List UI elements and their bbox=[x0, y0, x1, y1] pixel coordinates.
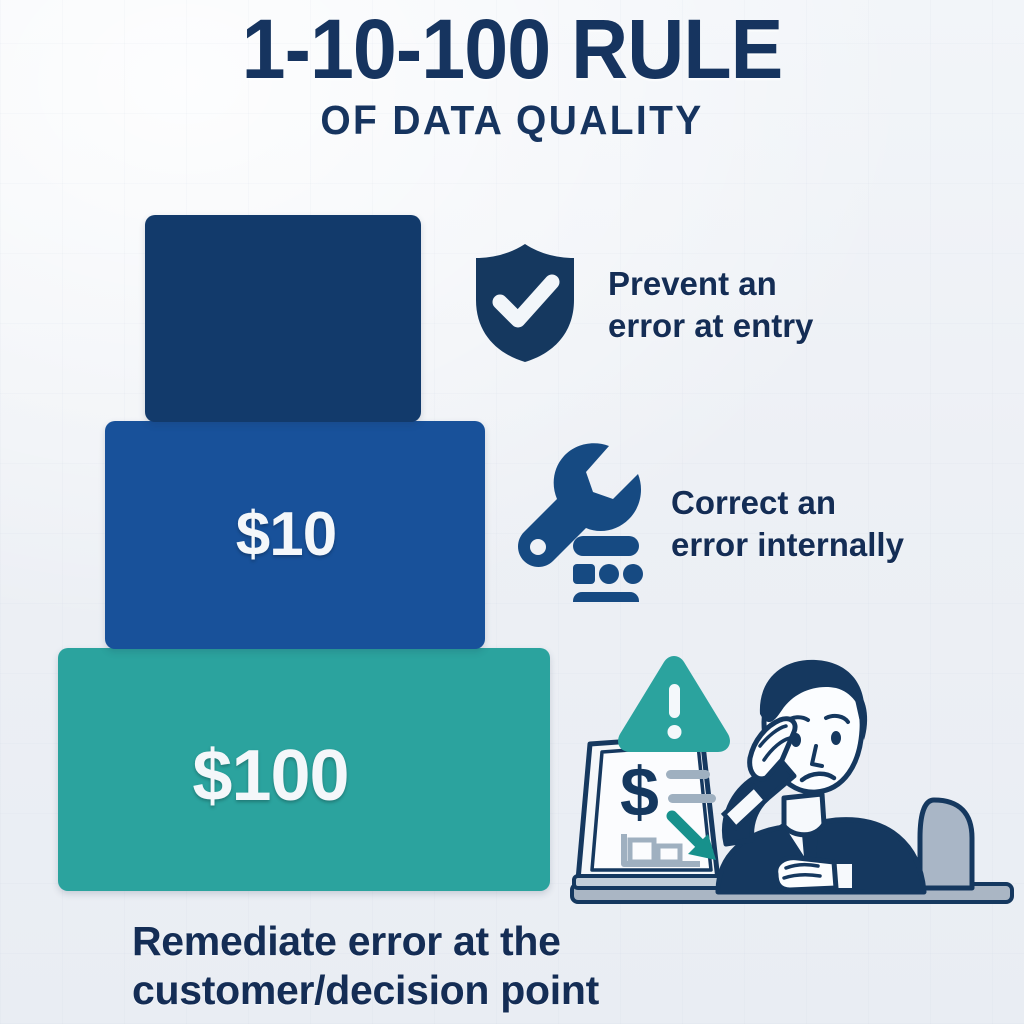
infographic-canvas: 1-10-100 RULE OF DATA QUALITY $1 $10 $10… bbox=[0, 0, 1024, 1024]
screen-currency-symbol: $ bbox=[620, 753, 659, 831]
laptop: $ bbox=[574, 736, 726, 888]
office-chair bbox=[920, 800, 972, 888]
banknote-amount-label: $100 bbox=[192, 735, 348, 817]
tier-block-prevent bbox=[145, 215, 421, 422]
callout-correct-label: Correct an error internally bbox=[671, 482, 904, 566]
warning-triangle-icon bbox=[618, 656, 730, 752]
shield-check-icon bbox=[466, 238, 584, 371]
stressed-person bbox=[718, 660, 924, 892]
stressed-worker-laptop-illustration: $ bbox=[568, 648, 1024, 920]
page-subtitle: OF DATA QUALITY bbox=[26, 98, 999, 142]
callout-correct: Correct an error internally bbox=[505, 440, 904, 607]
wrench-database-icon bbox=[505, 440, 645, 607]
callout-prevent: Prevent an error at entry bbox=[466, 238, 813, 371]
page-title: 1-10-100 RULE bbox=[31, 6, 994, 92]
banknote-amount-label: $10 bbox=[236, 499, 336, 570]
callout-prevent-label: Prevent an error at entry bbox=[608, 263, 813, 347]
title-block: 1-10-100 RULE OF DATA QUALITY bbox=[0, 6, 1024, 142]
callout-remediate-label: Remediate error at the customer/decision… bbox=[132, 917, 692, 1015]
